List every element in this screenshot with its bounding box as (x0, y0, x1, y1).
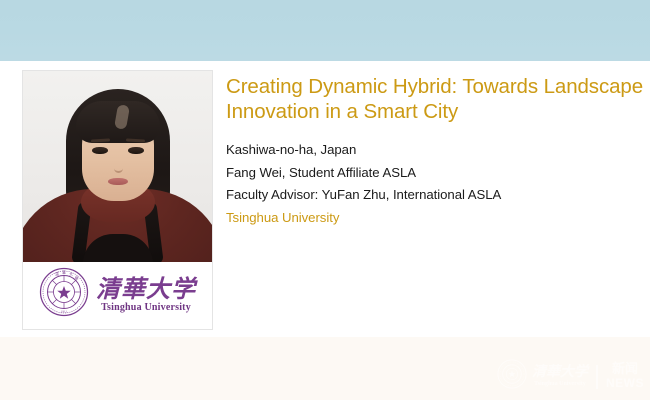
svg-text:大: 大 (69, 272, 73, 277)
tsinghua-logo-wordmark: 清華大学 Tsinghua University (96, 276, 196, 314)
credit-line-author: Fang Wei, Student Affiliate ASLA (226, 162, 644, 185)
slide-canvas: 清華大 學 1911 清華大学 Tsinghua University Crea… (0, 0, 650, 400)
credit-line-institution: Tsinghua University (226, 207, 644, 230)
svg-text:1911: 1911 (61, 310, 67, 314)
mouth-shape (108, 178, 128, 185)
watermark-divider (596, 365, 598, 389)
presenter-photo-card: 清華大 學 1911 清華大学 Tsinghua University (22, 70, 213, 330)
eye-right (128, 147, 144, 154)
slide-text-column: Creating Dynamic Hybrid: Towards Landsca… (226, 74, 644, 229)
svg-text:華: 華 (62, 270, 66, 275)
watermark-news-lockup: 新闻 NEWS (606, 363, 644, 390)
credit-line-location: Kashiwa-no-ha, Japan (226, 139, 644, 162)
nose-shape (114, 161, 123, 173)
svg-text:清: 清 (55, 272, 59, 277)
top-color-band (0, 0, 650, 61)
tsinghua-logo-block: 清華大 學 1911 清華大学 Tsinghua University (23, 262, 212, 329)
eye-left (92, 147, 108, 154)
watermark-news-english: NEWS (606, 377, 644, 390)
watermark-wordmark: 清華大学 Tsinghua University (532, 365, 588, 388)
tsinghua-logo-english: Tsinghua University (101, 302, 191, 314)
slide-title: Creating Dynamic Hybrid: Towards Landsca… (226, 74, 644, 124)
presenter-portrait-image (23, 71, 212, 264)
tsinghua-logo-chinese: 清華大学 (96, 276, 196, 302)
watermark-university-lockup: 清華大学 Tsinghua University (497, 359, 588, 394)
svg-text:學: 學 (75, 276, 79, 281)
tsinghua-news-watermark: 清華大学 Tsinghua University 新闻 NEWS (497, 359, 644, 394)
tsinghua-seal-icon: 清華大 學 1911 (39, 267, 89, 322)
watermark-english: Tsinghua University (534, 380, 586, 388)
watermark-news-chinese: 新闻 (612, 363, 638, 377)
watermark-chinese: 清華大学 (532, 365, 588, 380)
watermark-seal-icon (497, 359, 527, 394)
credit-line-advisor: Faculty Advisor: YuFan Zhu, Internationa… (226, 184, 644, 207)
